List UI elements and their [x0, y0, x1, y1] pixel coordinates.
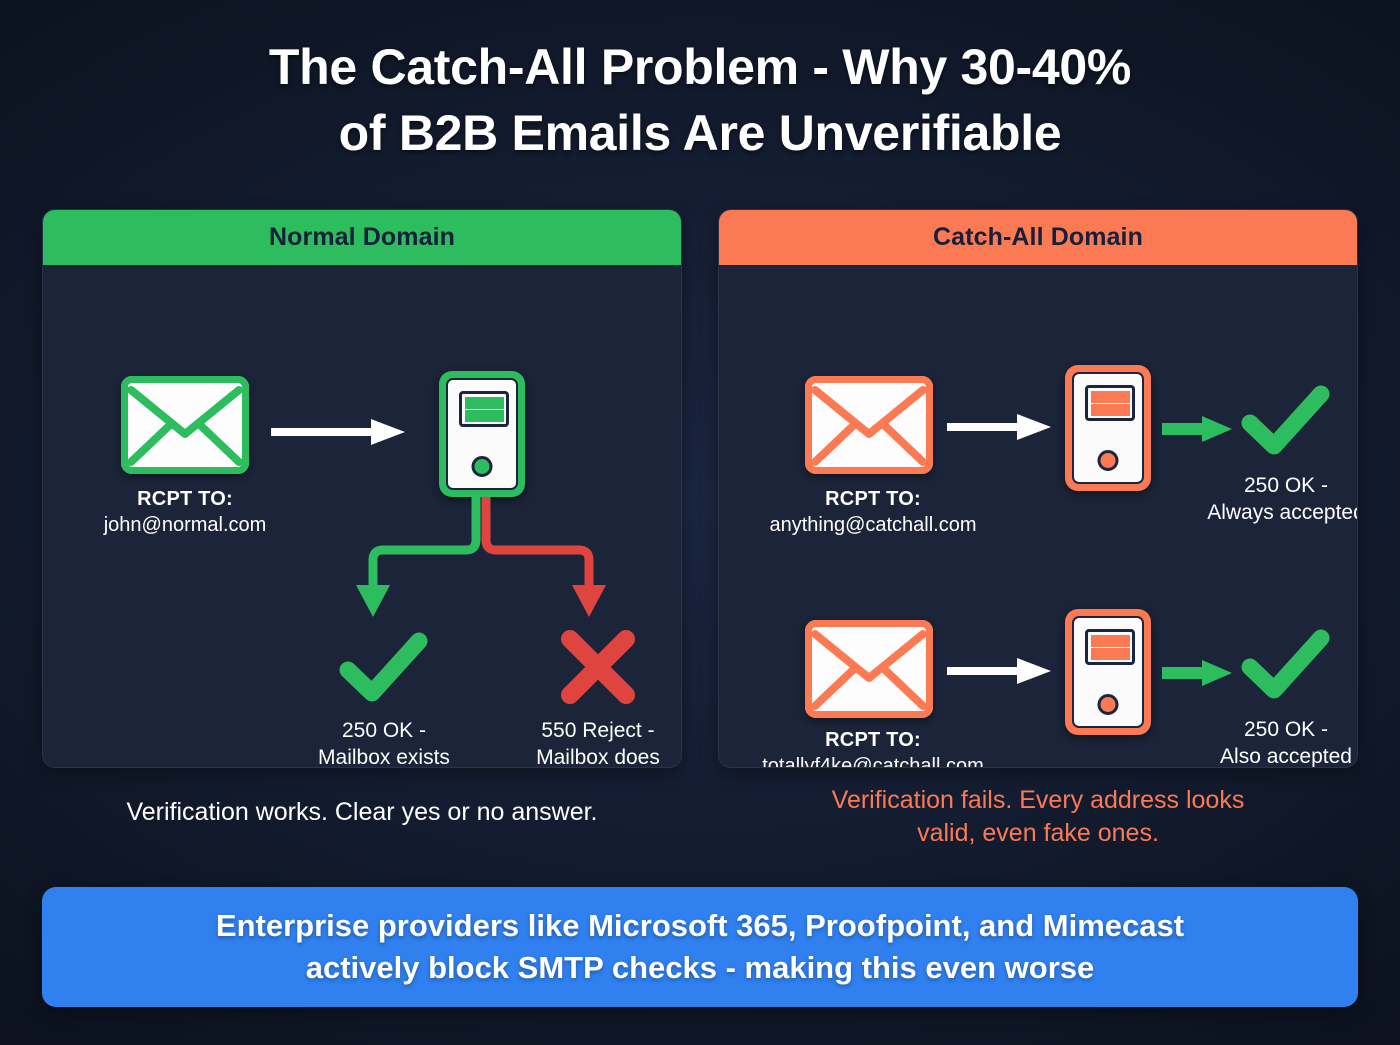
panel-normal-domain: Normal Domain [42, 209, 682, 768]
rcpt-label: RCPT TO: [721, 728, 1025, 754]
infographic-stage: The Catch-All Problem - Why 30-40% of B2… [0, 0, 1400, 1045]
panel-catchall-domain: Catch-All Domain [718, 209, 1358, 768]
envelope-border [121, 376, 249, 474]
server-case [1072, 616, 1144, 728]
caption-catchall-line-2: valid, even fake ones. [718, 817, 1358, 850]
envelope-icon [121, 376, 249, 474]
arrow-right-green-icon [1162, 415, 1234, 443]
rcpt-label: RCPT TO: [65, 487, 305, 513]
rcpt-value: john@normal.com [65, 513, 305, 539]
caption-normal-domain-text: Verification works. Clear yes or no answ… [126, 798, 597, 826]
arrow-right-white-icon [947, 412, 1057, 442]
server-bars [1085, 385, 1135, 421]
server-led [1098, 694, 1119, 715]
result-line-1: 250 OK - [1171, 716, 1358, 743]
server-icon [1065, 609, 1151, 735]
outcome-rejected-line-2: Mailbox does [468, 744, 682, 768]
page-title-line-1: The Catch-All Problem - Why 30-40% [0, 34, 1400, 100]
panel-catchall-domain-header: Catch-All Domain [719, 210, 1357, 265]
page-title-line-2: of B2B Emails Are Unverifiable [0, 100, 1400, 166]
server-led [1098, 450, 1119, 471]
cross-icon [556, 627, 640, 707]
rcpt-value: totallyf4ke@catchall.com [721, 754, 1025, 768]
envelope-icon [805, 376, 933, 474]
page-title: The Catch-All Problem - Why 30-40% of B2… [0, 34, 1400, 166]
server-icon [1065, 365, 1151, 491]
rcpt-value: anything@catchall.com [735, 513, 1011, 539]
envelope-border [805, 620, 933, 718]
caption-normal-domain: Verification works. Clear yes or no answ… [42, 796, 682, 829]
arrow-right-white-icon [271, 417, 411, 447]
caption-catchall-domain: Verification fails. Every address looks … [718, 784, 1358, 850]
server-bars [459, 391, 509, 427]
arrow-right-green-icon [1162, 659, 1234, 687]
bottom-banner: Enterprise providers like Microsoft 365,… [42, 887, 1358, 1007]
arrow-right-white-icon [947, 656, 1057, 686]
server-led [472, 456, 493, 477]
result-line-2: Always accepted [1171, 499, 1358, 526]
result-line-1: 250 OK - [1171, 472, 1358, 499]
result-always-accepted: 250 OK - Always accepted [1171, 472, 1358, 527]
panel-catchall-domain-body: RCPT TO: anything@catchall.com 250 OK - … [719, 265, 1357, 768]
branch-connectors [293, 497, 613, 632]
check-icon [1241, 629, 1331, 699]
check-icon [1241, 385, 1331, 455]
server-case [1072, 372, 1144, 484]
outcome-rejected: 550 Reject - Mailbox does not exist [468, 717, 682, 768]
outcome-rejected-line-1: 550 Reject - [468, 717, 682, 744]
result-line-2: Also accepted [1171, 743, 1358, 768]
envelope-icon [805, 620, 933, 718]
panel-normal-domain-body: RCPT TO: john@normal.com [43, 265, 681, 768]
check-icon [339, 632, 429, 702]
envelope-border [805, 376, 933, 474]
bottom-banner-line-1: Enterprise providers like Microsoft 365,… [216, 905, 1184, 947]
server-case [446, 378, 518, 490]
server-icon [439, 371, 525, 497]
caption-catchall-line-1: Verification fails. Every address looks [718, 784, 1358, 817]
rcpt-block-catchall-2: RCPT TO: totallyf4ke@catchall.com [721, 728, 1025, 768]
server-bars [1085, 629, 1135, 665]
rcpt-label: RCPT TO: [735, 487, 1011, 513]
rcpt-block-normal: RCPT TO: john@normal.com [65, 487, 305, 538]
result-also-accepted: 250 OK - Also accepted [1171, 716, 1358, 768]
rcpt-block-catchall-1: RCPT TO: anything@catchall.com [735, 487, 1011, 538]
bottom-banner-line-2: actively block SMTP checks - making this… [306, 947, 1095, 989]
panel-normal-domain-header: Normal Domain [43, 210, 681, 265]
